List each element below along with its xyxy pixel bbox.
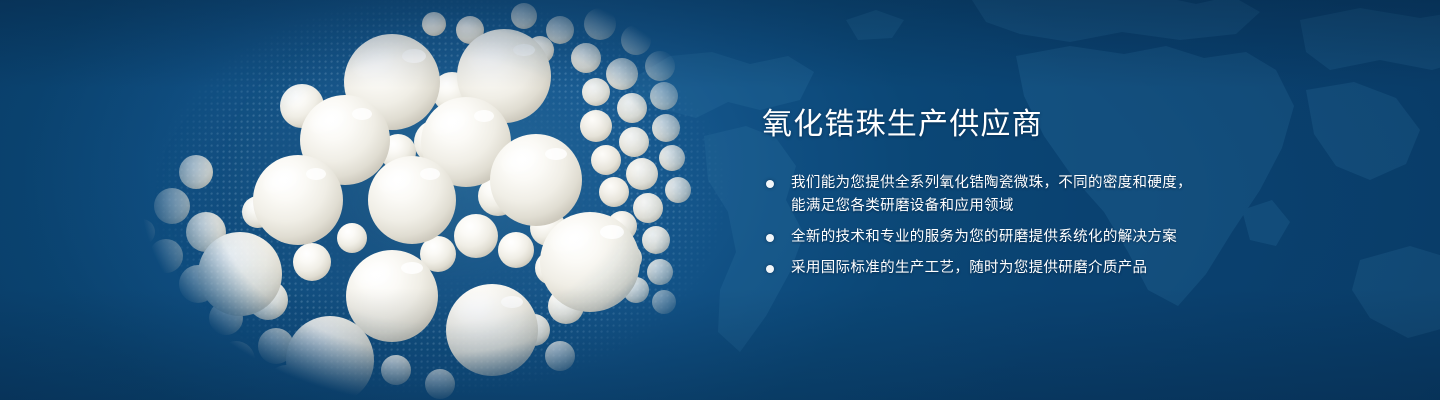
list-item-line: 我们能为您提供全系列氧化锆陶瓷微珠，不同的密度和硬度， bbox=[791, 172, 1382, 195]
list-item: 我们能为您提供全系列氧化锆陶瓷微珠，不同的密度和硬度， 能满足您各类研磨设备和应… bbox=[762, 172, 1382, 218]
banner-copy: 氧化锆珠生产供应商 我们能为您提供全系列氧化锆陶瓷微珠，不同的密度和硬度， 能满… bbox=[762, 108, 1382, 280]
page-title: 氧化锆珠生产供应商 bbox=[762, 108, 1382, 142]
feature-list: 我们能为您提供全系列氧化锆陶瓷微珠，不同的密度和硬度， 能满足您各类研磨设备和应… bbox=[762, 172, 1382, 280]
hero-banner: 氧化锆珠生产供应商 我们能为您提供全系列氧化锆陶瓷微珠，不同的密度和硬度， 能满… bbox=[0, 0, 1440, 400]
bullet-dot-icon bbox=[766, 234, 774, 242]
bullet-dot-icon bbox=[766, 180, 774, 188]
list-item: 采用国际标准的生产工艺，随时为您提供研磨介质产品 bbox=[762, 257, 1382, 280]
bullet-dot-icon bbox=[766, 265, 774, 273]
list-item-line: 采用国际标准的生产工艺，随时为您提供研磨介质产品 bbox=[791, 257, 1382, 280]
list-item: 全新的技术和专业的服务为您的研磨提供系统化的解决方案 bbox=[762, 226, 1382, 249]
list-item-line: 全新的技术和专业的服务为您的研磨提供系统化的解决方案 bbox=[791, 226, 1382, 249]
list-item-line: 能满足您各类研磨设备和应用领域 bbox=[791, 195, 1382, 218]
